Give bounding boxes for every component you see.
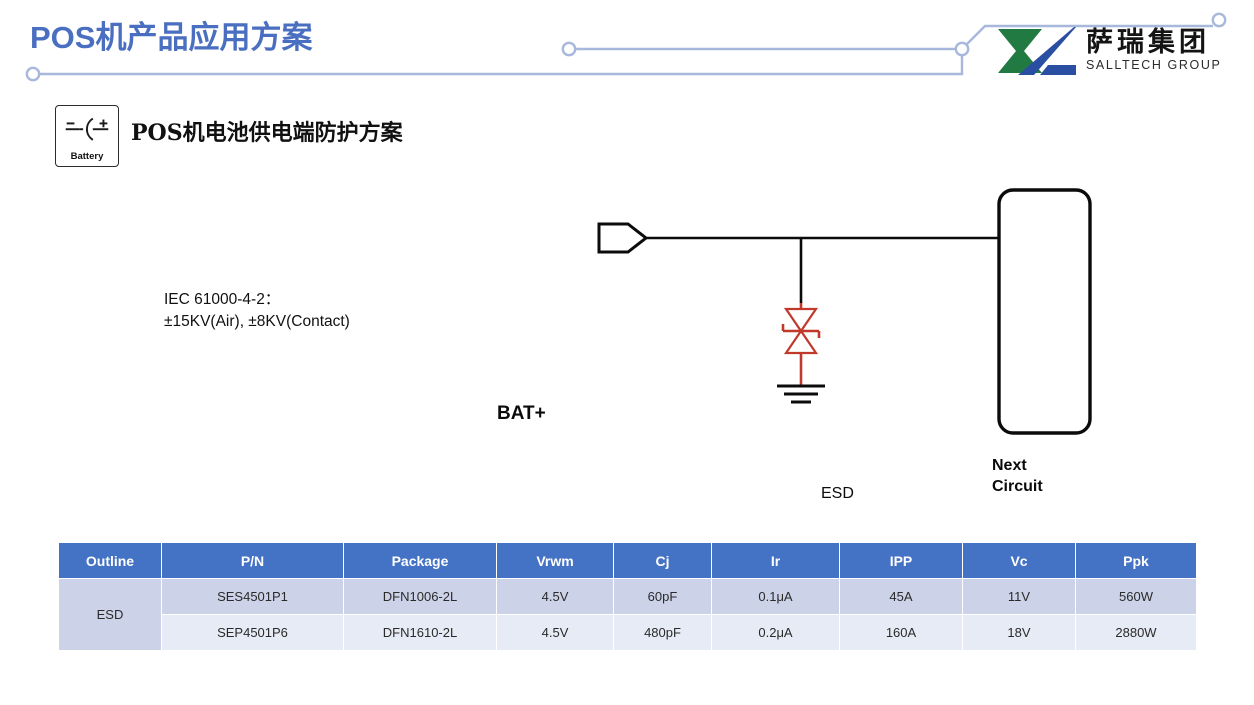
table-header-pn[interactable]: P/N	[162, 543, 344, 579]
table-cell-ppk: 560W	[1076, 579, 1197, 615]
table-cell-ir: 0.2μA	[712, 615, 840, 651]
protection-schematic: BAT+ ESD GND Next Circuit	[480, 175, 1120, 450]
table-cell-package: DFN1006-2L	[344, 579, 497, 615]
table-row: ESD SES4501P1 DFN1006-2L 4.5V 60pF 0.1μA…	[59, 579, 1197, 615]
iec-standard-line1: IEC 61000-4-2：	[164, 289, 350, 311]
table-cell-ppk: 2880W	[1076, 615, 1197, 651]
spec-table: Outline P/N Package Vrwm Cj Ir IPP Vc Pp…	[58, 542, 1197, 651]
table-cell-cj: 480pF	[614, 615, 712, 651]
table-cell-ipp: 160A	[840, 615, 963, 651]
table-cell-vrwm: 4.5V	[497, 579, 614, 615]
deco-node-junction	[956, 43, 968, 55]
table-cell-ir: 0.1μA	[712, 579, 840, 615]
battery-icon-label: Battery	[56, 151, 118, 162]
iec-standard-note: IEC 61000-4-2： ±15KV(Air), ±8KV(Contact)	[164, 289, 350, 334]
table-header-package[interactable]: Package	[344, 543, 497, 579]
table-cell-package: DFN1610-2L	[344, 615, 497, 651]
brand-logo: 萨瑞集团 SALLTECH GROUP	[996, 22, 1236, 80]
table-header-cj[interactable]: Cj	[614, 543, 712, 579]
deco-node-left	[27, 68, 39, 80]
table-header-ppk[interactable]: Ppk	[1076, 543, 1197, 579]
table-cell-vc: 11V	[963, 579, 1076, 615]
table-cell-ipp: 45A	[840, 579, 963, 615]
table-cell-cj: 60pF	[614, 579, 712, 615]
next-circuit-line1: Next	[992, 456, 1043, 477]
iec-standard-line2: ±15KV(Air), ±8KV(Contact)	[164, 311, 350, 333]
next-circuit-line2: Circuit	[992, 477, 1043, 498]
next-circuit-block	[999, 190, 1090, 433]
bat-plus-label: BAT+	[497, 403, 546, 425]
brand-text: 萨瑞集团 SALLTECH GROUP	[1086, 29, 1221, 72]
salltech-logo-icon	[996, 25, 1078, 77]
brand-name-en: SALLTECH GROUP	[1086, 59, 1221, 73]
table-cell-vrwm: 4.5V	[497, 615, 614, 651]
table-cell-outline-group: ESD	[59, 579, 162, 651]
esd-diode-icon	[783, 303, 819, 385]
table-header-ipp[interactable]: IPP	[840, 543, 963, 579]
brand-name-cn: 萨瑞集团	[1086, 29, 1221, 57]
table-header-outline[interactable]: Outline	[59, 543, 162, 579]
ground-symbol-icon	[777, 386, 825, 402]
table-header-ir[interactable]: Ir	[712, 543, 840, 579]
bat-connector-icon	[599, 224, 646, 252]
table-cell-pn: SEP4501P6	[162, 615, 344, 651]
esd-label: ESD	[821, 485, 854, 503]
deco-node-middle	[563, 43, 575, 55]
section-heading: POS机电池供电端防护方案	[131, 115, 403, 147]
schematic-drawing	[480, 175, 1120, 450]
table-header-row: Outline P/N Package Vrwm Cj Ir IPP Vc Pp…	[59, 543, 1197, 579]
table-header-vrwm[interactable]: Vrwm	[497, 543, 614, 579]
table-header-vc[interactable]: Vc	[963, 543, 1076, 579]
table-row: SEP4501P6 DFN1610-2L 4.5V 480pF 0.2μA 16…	[59, 615, 1197, 651]
battery-icon: Battery	[55, 105, 119, 167]
table-cell-vc: 18V	[963, 615, 1076, 651]
next-circuit-label: Next Circuit	[992, 456, 1043, 498]
table-cell-pn: SES4501P1	[162, 579, 344, 615]
page-title: POS机产品应用方案	[30, 12, 312, 57]
